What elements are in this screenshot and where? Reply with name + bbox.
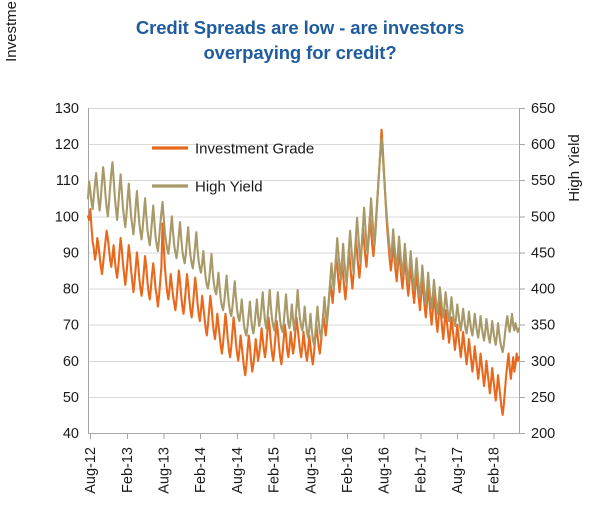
- x-axis-tick-label: Aug-12: [83, 447, 99, 494]
- x-axis-tick-label: Feb-14: [193, 447, 209, 493]
- y-axis-right-tick-label: 200: [531, 426, 555, 442]
- y-axis-right-tick-label: 650: [531, 101, 555, 117]
- y-axis-right-tick-label: 500: [531, 209, 555, 225]
- series-lines: [88, 130, 519, 415]
- x-axis-tick-label: Aug-15: [303, 447, 319, 494]
- y-axis-right-tick-label: 350: [531, 318, 555, 334]
- y-axis-right-tick-label: 400: [531, 282, 555, 298]
- x-axis-tick-label: Feb-15: [267, 447, 283, 493]
- y-axis-right-tick-label: 450: [531, 245, 555, 261]
- legend-label-high-yield[interactable]: High Yield: [195, 179, 263, 196]
- chart-container: Credit Spreads are low - are investors o…: [0, 0, 600, 521]
- series-line-investment-grade: [88, 130, 519, 415]
- x-axis-tick-label: Feb-13: [120, 447, 136, 493]
- y-axis-left-tick-label: 110: [56, 173, 79, 189]
- y-axis-left-tick-label: 50: [63, 390, 79, 406]
- x-axis-tick-label: Aug-14: [230, 447, 246, 494]
- plot-area: 405060708090100110120130 200250300350400…: [0, 0, 600, 521]
- y-axis-right-tick-label: 550: [531, 173, 555, 189]
- y-axis-left-tick-label: 70: [63, 318, 79, 334]
- x-axis-tick-label: Aug-13: [157, 447, 173, 494]
- y-axis-left-tick-label: 90: [63, 245, 79, 261]
- y-axis-left-tick-label: 100: [55, 209, 79, 225]
- y-axis-left-ticks: 405060708090100110120130: [55, 101, 89, 442]
- y-axis-left-tick-label: 120: [55, 137, 79, 153]
- chart-legend: Investment GradeHigh Yield: [152, 141, 314, 196]
- x-axis-tick-label: Aug-17: [450, 447, 466, 494]
- x-axis-tick-label: Feb-16: [340, 447, 356, 493]
- y-axis-left-tick-label: 130: [55, 101, 79, 117]
- legend-label-investment-grade[interactable]: Investment Grade: [195, 141, 314, 158]
- y-axis-left-tick-label: 40: [63, 426, 79, 442]
- series-line-high-yield: [88, 138, 519, 352]
- y-axis-right-tick-label: 250: [531, 390, 555, 406]
- y-axis-right-tick-label: 600: [531, 137, 555, 153]
- x-axis-ticks: Aug-12Feb-13Aug-13Feb-14Aug-14Feb-15Aug-…: [83, 433, 502, 494]
- y-axis-right-ticks: 200250300350400450500550600650: [519, 101, 555, 442]
- x-axis-tick-label: Feb-17: [413, 447, 429, 493]
- x-axis-tick-label: Aug-16: [377, 447, 393, 494]
- y-axis-left-tick-label: 60: [63, 354, 79, 370]
- x-axis-tick-label: Feb-18: [487, 447, 503, 493]
- y-axis-left-tick-label: 80: [63, 282, 79, 298]
- y-axis-right-tick-label: 300: [531, 354, 555, 370]
